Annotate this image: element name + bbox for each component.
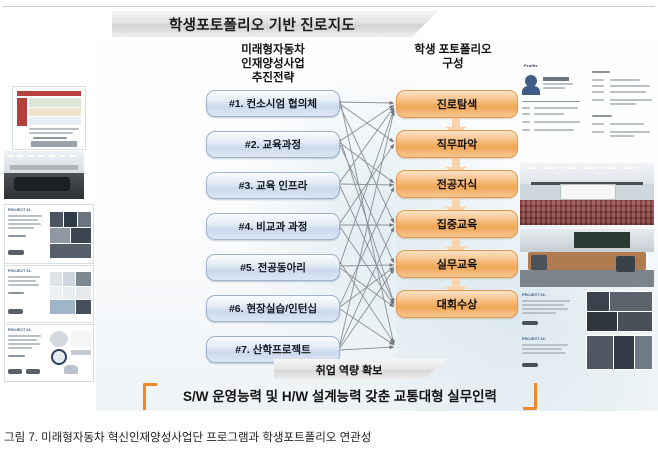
panel-project-03-right: PROJECT 03. xyxy=(520,291,654,333)
strategy-box-2[interactable]: #2. 교육과정 xyxy=(206,131,340,158)
strategy-box-3-label: #3. 교육 인프라 xyxy=(239,178,308,193)
portfolio-box-3-label: 전공지식 xyxy=(437,176,477,192)
strategy-box-6-label: #6. 현장실습/인턴십 xyxy=(229,301,317,316)
panel-project-03-photos xyxy=(49,330,91,376)
summary-statement-text: S/W 운영능력 및 H/W 설계능력 갖춘 교통대형 실무인력 xyxy=(183,385,497,405)
panel-project-04-right: PROJECT 04. xyxy=(520,335,654,377)
portfolio-box-5[interactable]: 실무교육 xyxy=(396,250,518,278)
right-column-header-line-1: 학생 포토폴리오 xyxy=(388,43,518,57)
strategy-box-4-label: #4. 비교과 과정 xyxy=(239,219,308,234)
panel-project-01-photos xyxy=(49,211,91,259)
left-column-header-line-1: 미래형자동차 xyxy=(208,43,338,57)
figure-container: PROJECT 01. PROJECT 02. xyxy=(0,0,658,419)
photo-auditorium xyxy=(520,163,654,225)
panel-project-02-title: PROJECT 02. xyxy=(8,269,32,273)
summary-statement: S/W 운영능력 및 H/W 설계능력 갖춘 교통대형 실무인력 xyxy=(140,380,540,410)
right-column-header-line-2: 구성 xyxy=(388,57,518,71)
strategy-box-1-label: #1. 컨소시엄 협의체 xyxy=(229,96,317,111)
left-column-header-line-2: 인재양성사업 xyxy=(208,57,338,71)
panel-profile: Profile xyxy=(520,53,654,163)
portfolio-box-1-label: 진로탐색 xyxy=(437,96,477,112)
panel-project-03: PROJECT 03. xyxy=(4,324,94,382)
left-photo-strip: PROJECT 01. PROJECT 02. xyxy=(4,8,96,408)
panel-project-04-right-photos xyxy=(586,335,652,369)
panel-profile-title: Profile xyxy=(524,63,538,68)
employment-capability-label: 취업 역량 확보 xyxy=(316,362,383,378)
panel-project-04-right-title: PROJECT 04. xyxy=(522,337,546,341)
left-column-header-line-3: 추진전략 xyxy=(208,71,338,85)
panel-project-03-right-photos xyxy=(586,291,652,331)
portfolio-box-6[interactable]: 대회수상 xyxy=(396,290,518,318)
photo-laboratory xyxy=(4,151,84,199)
profile-avatar-body xyxy=(522,86,540,95)
employment-capability-ribbon: 취업 역량 확보 xyxy=(274,359,424,380)
portfolio-box-6-label: 대회수상 xyxy=(437,296,477,312)
photo-classroom xyxy=(520,229,654,287)
strategy-box-7-label: #7. 산학프로젝트 xyxy=(235,342,310,357)
strategy-box-5-label: #5. 전공동아리 xyxy=(240,260,306,275)
auditorium-ceiling-lights xyxy=(525,167,648,169)
portfolio-box-2-label: 직무파악 xyxy=(437,136,477,152)
strategy-box-5[interactable]: #5. 전공동아리 xyxy=(206,254,340,281)
portfolio-box-1[interactable]: 진로탐색 xyxy=(396,90,518,118)
right-photo-strip: Profile xyxy=(520,53,656,383)
portfolio-box-3[interactable]: 전공지식 xyxy=(396,170,518,198)
strategy-box-3[interactable]: #3. 교육 인프라 xyxy=(206,172,340,199)
strategy-box-6[interactable]: #6. 현장실습/인턴십 xyxy=(206,295,340,322)
left-column-header: 미래형자동차 인재양성사업 추진전략 xyxy=(208,43,338,85)
ceiling-lights xyxy=(7,155,81,157)
portfolio-box-4[interactable]: 집중교육 xyxy=(396,210,518,238)
diagram-title: 학생포토폴리오 기반 진로지도 xyxy=(169,14,355,35)
panel-project-01-title: PROJECT 01. xyxy=(8,208,32,212)
strategy-box-2-label: #2. 교육과정 xyxy=(245,137,301,152)
panel-project-01: PROJECT 01. xyxy=(4,204,94,264)
portfolio-box-4-label: 집중교육 xyxy=(437,216,477,232)
strategy-box-1[interactable]: #1. 컨소시엄 협의체 xyxy=(206,90,340,117)
portfolio-box-5-label: 실무교육 xyxy=(437,256,477,272)
figure-caption: 그림 7. 미래형자동차 혁신인재양성사업단 프로그램과 학생포트폴리오 연관성 xyxy=(4,429,654,445)
panel-project-02-photos xyxy=(49,271,91,317)
strategy-box-4[interactable]: #4. 비교과 과정 xyxy=(206,213,340,240)
diagram-title-ribbon-tail xyxy=(412,11,438,37)
panel-project-03-right-title: PROJECT 03. xyxy=(522,293,546,297)
right-column-header: 학생 포토폴리오 구성 xyxy=(388,43,518,71)
portfolio-box-2[interactable]: 직무파악 xyxy=(396,130,518,158)
thumbnail-poster-document xyxy=(12,86,86,150)
panel-project-02: PROJECT 02. xyxy=(4,265,94,323)
bracket-left-icon xyxy=(143,383,157,410)
diagram-slide: 학생포토폴리오 기반 진로지도 미래형자동차 인재양성사업 추진전략 학생 포토… xyxy=(96,7,658,411)
employment-capability-ribbon-tail xyxy=(424,359,446,380)
diagram-title-ribbon: 학생포토폴리오 기반 진로지도 xyxy=(112,11,412,37)
bracket-right-icon xyxy=(523,383,537,410)
panel-project-03-title: PROJECT 03. xyxy=(8,328,32,332)
